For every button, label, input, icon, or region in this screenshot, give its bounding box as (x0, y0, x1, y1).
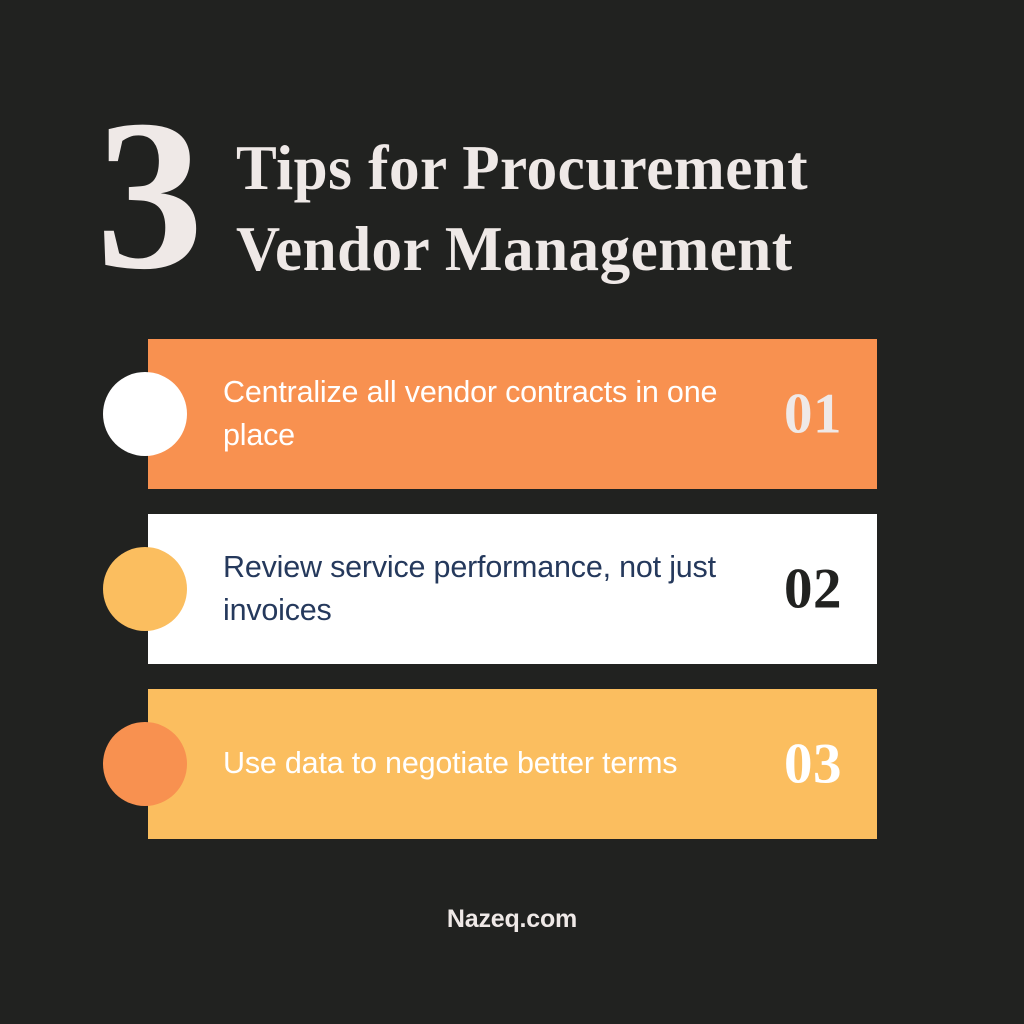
headline-count-numeral: 3 (96, 100, 236, 289)
infographic-poster: 3 Tips for Procurement Vendor Management… (0, 0, 1024, 1024)
headline-title-line-1: Tips for Procurement (236, 128, 896, 209)
headline-title-line-2: Vendor Management (236, 209, 896, 290)
bullet-dot-icon (103, 722, 187, 806)
tips-list: Centralize all vendor contracts in one p… (0, 339, 1024, 839)
header: 3 Tips for Procurement Vendor Management (96, 112, 916, 307)
bullet-dot-icon (103, 547, 187, 631)
tip-number-badge: 03 (784, 736, 842, 793)
tip-text: Centralize all vendor contracts in one p… (223, 371, 723, 458)
bullet-dot-icon (103, 372, 187, 456)
tip-card: Review service performance, not just inv… (148, 514, 877, 664)
tip-card: Centralize all vendor contracts in one p… (148, 339, 877, 489)
tip-number-badge: 01 (784, 386, 842, 443)
tip-card: Use data to negotiate better terms 03 (148, 689, 877, 839)
tip-number-badge: 02 (784, 561, 842, 618)
tip-text: Review service performance, not just inv… (223, 546, 723, 633)
footer: Nazeq.com (0, 905, 1024, 934)
headline-title: Tips for Procurement Vendor Management (236, 112, 916, 289)
brand-watermark: Nazeq.com (447, 905, 577, 933)
tip-text: Use data to negotiate better terms (223, 742, 723, 785)
